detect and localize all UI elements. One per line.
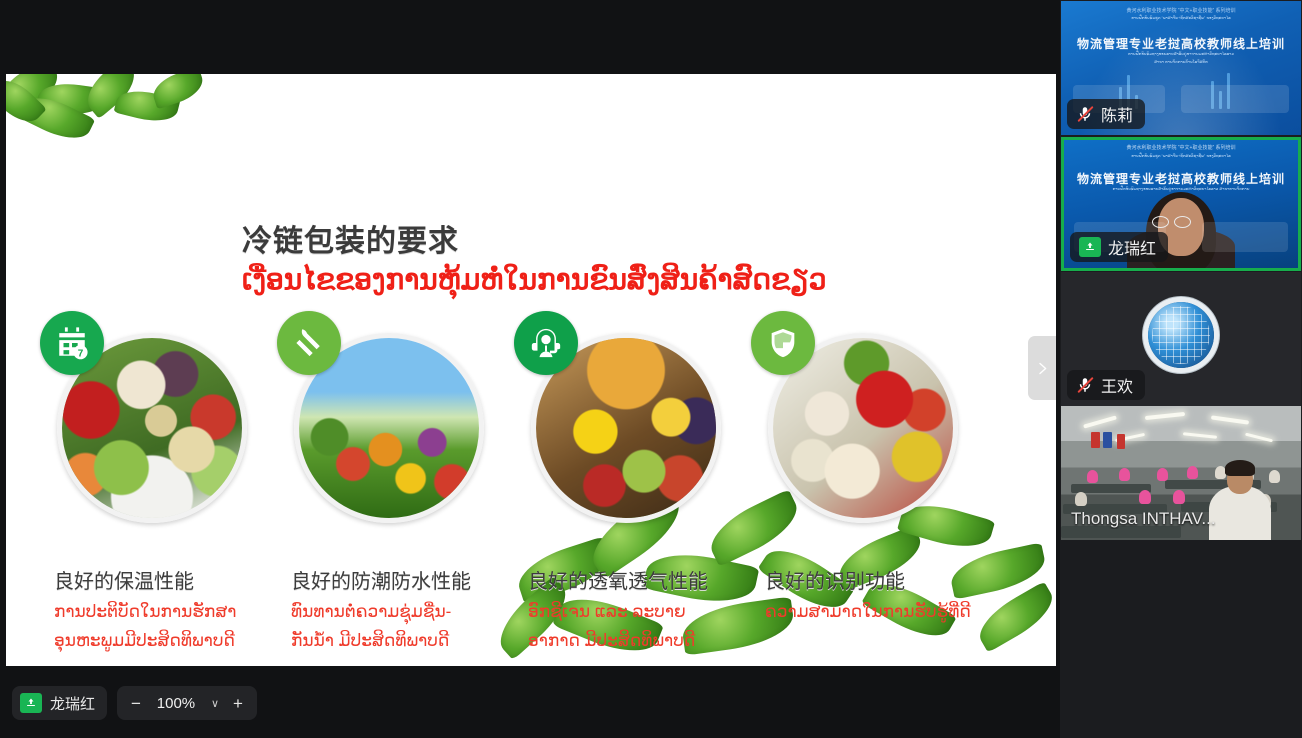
caption-chinese: 良好的识别功能 [765, 567, 1015, 598]
participant-name: 陈莉 [1101, 102, 1133, 126]
shared-slide: 冷链包装的要求 ເງື່ອນໄຂຂອງການຫຸ້ມຫໍ່ໃນການຂົນສົ່… [6, 74, 1056, 666]
mic-muted-icon [1076, 376, 1094, 394]
calendar-7-icon: 7 [40, 311, 104, 375]
chevron-down-icon[interactable]: ∨ [211, 697, 219, 710]
participant-video-strip: 黄河水利职业技术学院 “中文+职业技能” 系列培训 ການຝຶກອົບຮົມຊຸ… [1060, 0, 1302, 738]
caption-lao-line1: ອົກຊີເຈນ ແລະ ລະບາຍ [528, 598, 778, 627]
caption-lao-line1: ຄວາມສາມາດໃນການຮັບຮູ້ທີ່ດີ [765, 598, 1015, 627]
feature-caption: 良好的透氧透气性能 ອົກຊີເຈນ ແລະ ລະບາຍ ອາກາດ ມີປະສ… [528, 567, 778, 656]
participant-name: Thongsa INTHAV... [1071, 509, 1216, 529]
feature-column: 良好的透氧透气性能 ອົກຊີເຈນ ແລະ ລະບາຍ ອາກາດ ມີປະສ… [526, 319, 751, 559]
zoom-level-control[interactable]: − 100% ∨ + [117, 686, 257, 720]
slide-title-block: 冷链包装的要求 ເງື່ອນໄຂຂອງການຫຸ້ມຫໍ່ໃນການຂົນສົ່… [242, 224, 942, 297]
feature-column: 良好的防潮防水性能 ທົນທານຕໍ່ຄວາມຊຸ່ມຊື່ນ- ກັນນ້ຳ … [289, 319, 514, 559]
zoom-level-value: 100% [155, 695, 197, 712]
feature-caption: 良好的识别功能 ຄວາມສາມາດໃນການຮັບຮູ້ທີ່ດີ [765, 567, 1015, 627]
caption-chinese: 良好的防潮防水性能 [291, 567, 541, 598]
screen-share-icon [20, 693, 42, 713]
participant-nameplate: Thongsa INTHAV... [1067, 504, 1228, 534]
participant-name: 龙瑞红 [1108, 235, 1156, 259]
caption-chinese: 良好的保温性能 [54, 567, 304, 598]
slide-title-lao: ເງື່ອນໄຂຂອງການຫຸ້ມຫໍ່ໃນການຂົນສົ່ງສິນຄ້າສ… [242, 262, 942, 297]
presenter-name: 龙瑞红 [50, 693, 95, 714]
participant-nameplate: 龙瑞红 [1070, 232, 1168, 262]
zoom-meeting-window: 冷链包装的要求 ເງື່ອນໄຂຂອງການຫຸ້ມຫໍ່ໃນການຂົນສົ່… [0, 0, 1302, 738]
headset-support-icon [514, 311, 578, 375]
feature-column: 7 良好的保温性能 ການປະຕິບັດໃນການຮັກສາ ອຸນຫະພູມມ… [52, 319, 277, 559]
participant-tile[interactable]: 黄河水利职业技术学院 “中文+职业技能” 系列培训 ການຝຶກອົບຮົມຊຸ… [1061, 1, 1301, 135]
presenter-indicator[interactable]: 龙瑞红 [12, 686, 107, 720]
tools-icon [277, 311, 341, 375]
globe-avatar [1148, 302, 1214, 368]
participant-tile[interactable]: Thongsa INTHAV... [1061, 406, 1301, 540]
participant-tile[interactable]: 王欢 [1061, 272, 1301, 406]
caption-lao-line1: ທົນທານຕໍ່ຄວາມຊຸ່ມຊື່ນ- [291, 598, 541, 627]
feature-caption: 良好的防潮防水性能 ທົນທານຕໍ່ຄວາມຊຸ່ມຊື່ນ- ກັນນ້ຳ … [291, 567, 541, 656]
zoom-in-button[interactable]: + [233, 695, 243, 712]
mic-muted-icon [1076, 105, 1094, 123]
caption-lao-line1: ການປະຕິບັດໃນການຮັກສາ [54, 598, 304, 627]
caption-lao-line2: ອຸນຫະພູມມີປະສິດທິພາບດີ [54, 627, 304, 656]
share-toolbar: 龙瑞红 − 100% ∨ + [0, 668, 1060, 738]
caption-lao-line2: ກັນນ້ຳ ມີປະສິດທິພາບດີ [291, 627, 541, 656]
screen-share-icon [1079, 237, 1101, 257]
chevron-right-icon [1035, 361, 1050, 376]
feature-column: 良好的识别功能 ຄວາມສາມາດໃນການຮັບຮູ້ທີ່ດີ [763, 319, 988, 559]
zoom-out-button[interactable]: − [131, 695, 141, 712]
feature-caption: 良好的保温性能 ການປະຕິບັດໃນການຮັກສາ ອຸນຫະພູມມີປ… [54, 567, 304, 656]
caption-lao-line2: ອາກາດ ມີປະສິດທິພາບດີ [528, 627, 778, 656]
svg-text:7: 7 [78, 349, 84, 360]
caption-chinese: 良好的透氧透气性能 [528, 567, 778, 598]
shared-screen-stage: 冷链包装的要求 ເງື່ອນໄຂຂອງການຫຸ້ມຫໍ່ໃນການຂົນສົ່… [0, 0, 1060, 738]
slide-title-chinese: 冷链包装的要求 [242, 224, 942, 260]
expand-panel-button[interactable] [1028, 336, 1056, 400]
participant-nameplate: 王欢 [1067, 370, 1145, 400]
participant-name: 王欢 [1101, 373, 1133, 397]
participant-tile-active-speaker[interactable]: 黄河水利职业技术学院 “中文+职业技能” 系列培训 ການຝຶກອົບຮົມຊຸ… [1061, 137, 1301, 271]
leaves-decoration-top-left [6, 74, 226, 150]
slide-feature-columns: 7 良好的保温性能 ການປະຕິບັດໃນການຮັກສາ ອຸນຫະພູມມ… [52, 319, 1012, 619]
participant-nameplate: 陈莉 [1067, 99, 1145, 129]
shield-icon [751, 311, 815, 375]
